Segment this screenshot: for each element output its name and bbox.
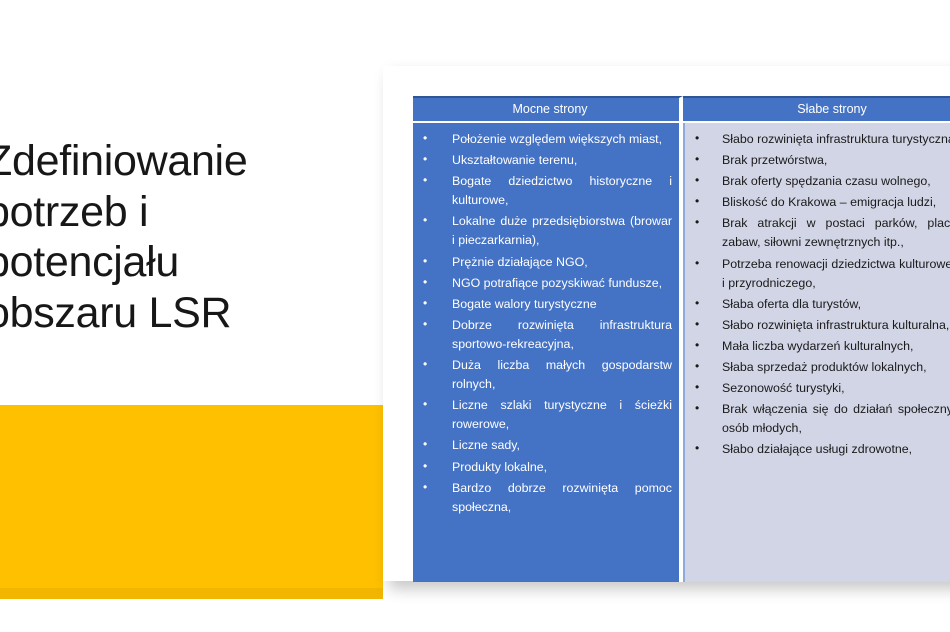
column-header-strengths: Mocne strony xyxy=(413,96,683,123)
list-item: Słabo działające usługi zdrowotne, xyxy=(685,440,950,459)
cell-weaknesses: Słabo rozwinięta infrastruktura turystyc… xyxy=(683,123,950,582)
list-item: Brak oferty spędzania czasu wolnego, xyxy=(685,172,950,191)
table-row: Położenie względem większych miast,Ukszt… xyxy=(413,123,950,582)
list-item: Brak włączenia się do działań społecznyc… xyxy=(685,400,950,438)
list-item: Lokalne duże przedsiębiorstwa (browar i … xyxy=(413,212,675,250)
list-item: Dobrze rozwinięta infrastruktura sportow… xyxy=(413,316,675,354)
list-item: Słaba oferta dla turystów, xyxy=(685,295,950,314)
list-item: Słabo rozwinięta infrastruktura turystyc… xyxy=(685,130,950,149)
list-item: Bogate walory turystyczne xyxy=(413,295,675,314)
list-item: Słabo rozwinięta infrastruktura kultural… xyxy=(685,316,950,335)
list-item: Bliskość do Krakowa – emigracja ludzi, xyxy=(685,193,950,212)
list-item: Położenie względem większych miast, xyxy=(413,130,675,149)
list-item: Brak przetwórstwa, xyxy=(685,151,950,170)
list-item: Liczne szlaki turystyczne i ścieżki rowe… xyxy=(413,396,675,434)
page-title: Zdefiniowanie potrzeb i potencjału obsza… xyxy=(0,136,316,339)
list-item: Mała liczba wydarzeń kulturalnych, xyxy=(685,337,950,356)
yellow-accent-shadow xyxy=(0,588,383,599)
table-header: Mocne strony Słabe strony xyxy=(413,96,950,123)
weaknesses-list: Słabo rozwinięta infrastruktura turystyc… xyxy=(685,130,950,460)
strengths-list: Położenie względem większych miast,Ukszt… xyxy=(413,130,675,517)
table-header-row: Mocne strony Słabe strony xyxy=(413,96,950,123)
table-body: Położenie względem większych miast,Ukszt… xyxy=(413,123,950,582)
list-item: Bogate dziedzictwo historyczne i kulturo… xyxy=(413,172,675,210)
column-header-weaknesses: Słabe strony xyxy=(683,96,950,123)
list-item: Bardzo dobrze rozwinięta pomoc społeczna… xyxy=(413,479,675,517)
yellow-accent-block xyxy=(0,405,383,599)
list-item: Ukształtowanie terenu, xyxy=(413,151,675,170)
list-item: Liczne sady, xyxy=(413,436,675,455)
list-item: Sezonowość turystyki, xyxy=(685,379,950,398)
list-item: Duża liczba małych gospodarstw rolnych, xyxy=(413,356,675,394)
swot-table: Mocne strony Słabe strony Położenie wzgl… xyxy=(413,96,950,582)
list-item: Produkty lokalne, xyxy=(413,458,675,477)
list-item: NGO potrafiące pozyskiwać fundusze, xyxy=(413,274,675,293)
slide-canvas: Zdefiniowanie potrzeb i potencjału obsza… xyxy=(0,0,950,632)
list-item: Potrzeba renowacji dziedzictwa kulturowe… xyxy=(685,255,950,293)
list-item: Słaba sprzedaż produktów lokalnych, xyxy=(685,358,950,377)
list-item: Brak atrakcji w postaci parków, placów z… xyxy=(685,214,950,252)
cell-strengths: Położenie względem większych miast,Ukszt… xyxy=(413,123,683,582)
list-item: Prężnie działające NGO, xyxy=(413,253,675,272)
